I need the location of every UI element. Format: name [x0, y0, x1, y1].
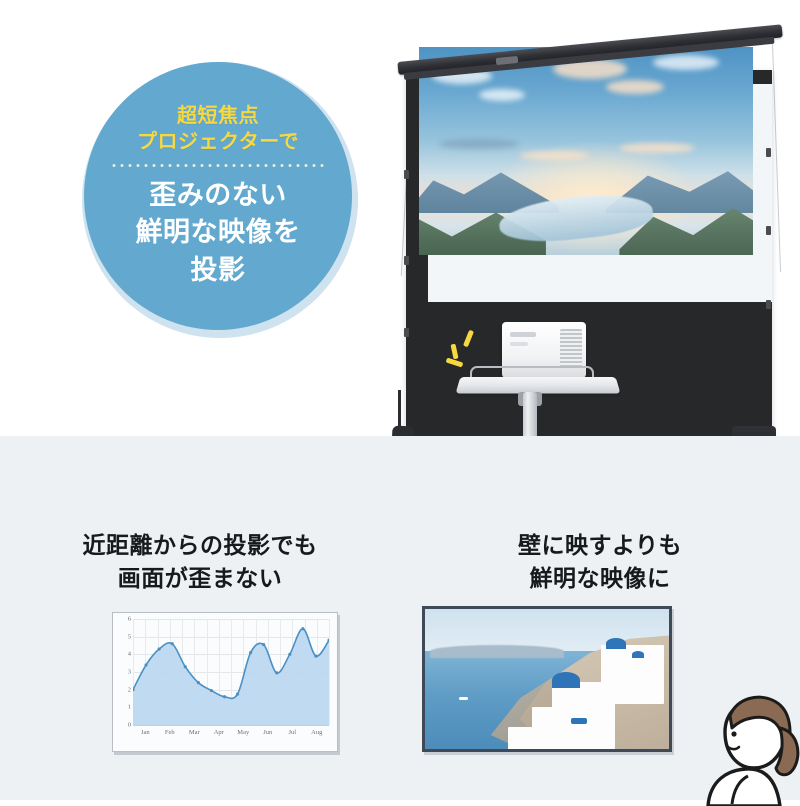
screen-side-clip-left-1 — [404, 170, 409, 179]
support-cord-right — [772, 42, 781, 272]
chart-y-axis-labels: 0123456 — [117, 619, 131, 725]
chart-y-tick: 1 — [128, 704, 131, 711]
blue-dome-tiny — [632, 651, 644, 658]
screen-side-clip-right-3 — [766, 300, 771, 309]
chart-data-point — [262, 643, 265, 646]
chart-data-point — [223, 695, 226, 698]
chart-data-point — [301, 627, 304, 630]
feature-title-distortion: 近距離からの投影でも 画面が歪まない — [0, 529, 400, 594]
chart-x-tick: Aug — [311, 729, 322, 736]
projector-cart — [444, 328, 634, 436]
chart-data-point — [275, 671, 278, 674]
chart-x-tick: Apr — [214, 729, 224, 736]
blue-dome-large — [552, 672, 580, 688]
screen-side-clip-right-2 — [766, 226, 771, 235]
badge-headline-line1: 歪みのない — [136, 177, 301, 214]
clarity-photo-card — [422, 606, 672, 752]
chart-x-tick: Mar — [189, 729, 200, 736]
feature-panel-clarity: 壁に映すよりも 鮮明な映像に — [400, 436, 800, 800]
screen-side-clip-left-3 — [404, 328, 409, 337]
badge-dotted-divider — [110, 164, 326, 167]
screen-side-clip-right-1 — [766, 148, 771, 157]
spark-icon-3 — [446, 357, 464, 367]
chart-data-point — [197, 681, 200, 684]
chart-x-tick: May — [237, 729, 249, 736]
chart-y-tick: 6 — [128, 616, 131, 623]
chart-y-tick: 3 — [128, 669, 131, 676]
cloud-2 — [479, 89, 525, 101]
chart-x-tick: Jul — [288, 729, 296, 736]
badge-headline-line2: 鮮明な映像を — [136, 214, 301, 251]
badge-tagline-line2: プロジェクターで — [137, 129, 299, 155]
badge-headline-line3: 投影 — [136, 252, 301, 289]
feature-title-clarity: 壁に映すよりも 鮮明な映像に — [400, 529, 800, 594]
feature-title-distortion-line1: 近距離からの投影でも — [0, 529, 400, 562]
chart-data-point — [314, 655, 317, 658]
chart-data-point — [249, 651, 252, 654]
santorini-far-island — [430, 645, 564, 658]
chart-data-point — [184, 665, 187, 668]
chart-data-point — [236, 692, 239, 695]
chart-data-point — [288, 653, 291, 656]
chart-x-tick: Jun — [263, 729, 272, 736]
power-cable — [398, 390, 508, 436]
chart-data-point — [158, 647, 161, 650]
cloud-8 — [619, 143, 695, 153]
feature-title-clarity-line1: 壁に映すよりも — [400, 529, 800, 562]
spark-icon-2 — [450, 344, 458, 360]
projected-image — [419, 47, 753, 255]
feature-badge: 超短焦点 プロジェクターで 歪みのない 鮮明な映像を 投影 — [84, 62, 352, 330]
chart-data-point — [144, 663, 147, 666]
chart-gridline-v — [329, 619, 330, 725]
cloud-6 — [439, 139, 519, 149]
chart-y-tick: 4 — [128, 651, 131, 658]
chart-x-axis-line — [133, 725, 329, 726]
chart-plot-area — [133, 619, 329, 725]
chart-area-fill — [133, 629, 329, 725]
chart-data-point — [171, 642, 174, 645]
screen-base-cap-right — [732, 426, 776, 436]
blue-roof-strip — [571, 718, 587, 724]
chart-data-point — [210, 689, 213, 692]
features-section: 近距離からの投影でも 画面が歪まない 0123456 JanFebMarAprM… — [0, 436, 800, 800]
promo-page: 超短焦点 プロジェクターで 歪みのない 鮮明な映像を 投影 — [0, 0, 800, 800]
hero-section: 超短焦点 プロジェクターで 歪みのない 鮮明な映像を 投影 — [0, 0, 800, 436]
building-cluster-4 — [508, 727, 567, 749]
projector-lens — [510, 332, 536, 337]
screen-side-clip-left-2 — [404, 256, 409, 265]
feature-title-distortion-line2: 画面が歪まない — [0, 562, 400, 595]
santorini-scene — [425, 609, 669, 749]
badge-tagline-line1: 超短焦点 — [137, 103, 299, 129]
projector-screen-rig — [392, 28, 800, 436]
chart-inner: 0123456 JanFebMarAprMayJunJulAug — [113, 613, 337, 751]
chart-y-tick: 5 — [128, 633, 131, 640]
badge-headline: 歪みのない 鮮明な映像を 投影 — [136, 177, 301, 289]
chart-x-axis-labels: JanFebMarAprMayJunJulAug — [133, 729, 329, 743]
projector-vent-icon — [560, 329, 582, 367]
chart-card: 0123456 JanFebMarAprMayJunJulAug — [112, 612, 338, 752]
chart-x-tick: Jan — [141, 729, 150, 736]
badge-tagline: 超短焦点 プロジェクターで — [137, 103, 299, 155]
projector-label-strip — [510, 342, 528, 346]
cloud-7 — [519, 151, 589, 160]
chart-y-tick: 0 — [128, 722, 131, 729]
feature-title-clarity-line2: 鮮明な映像に — [400, 562, 800, 595]
chart-x-tick: Feb — [165, 729, 175, 736]
feature-panel-distortion: 近距離からの投影でも 画面が歪まない 0123456 JanFebMarAprM… — [0, 436, 400, 800]
boat-icon — [459, 697, 468, 700]
chart-series-svg — [133, 619, 329, 725]
cart-center-post — [523, 392, 537, 436]
viewer-person-illustration — [688, 676, 800, 806]
spark-icon-1 — [463, 330, 474, 348]
blue-dome-small — [606, 638, 626, 649]
chart-y-tick: 2 — [128, 686, 131, 693]
